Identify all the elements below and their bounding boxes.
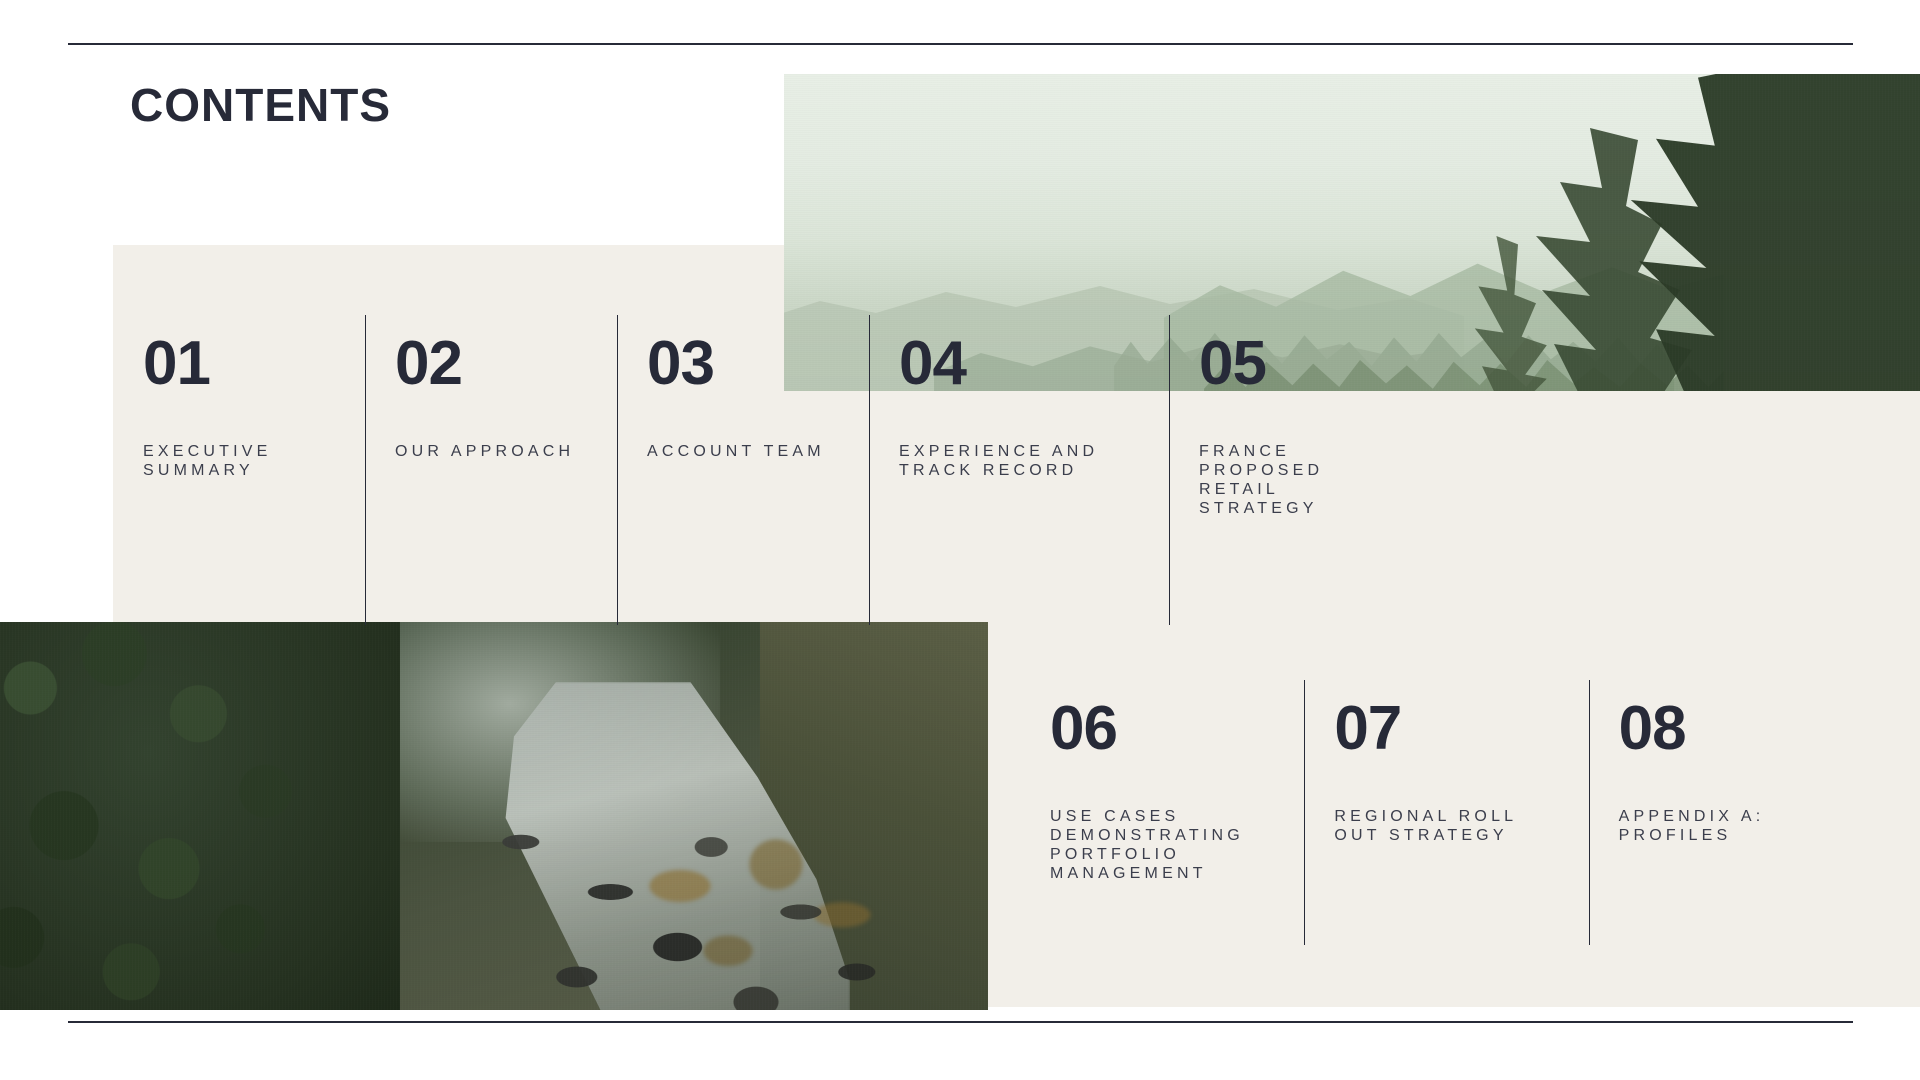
contents-item-03[interactable]: 03 ACCOUNT TEAM: [617, 315, 869, 625]
top-divider-rule: [68, 43, 1853, 45]
contents-item-02[interactable]: 02 OUR APPROACH: [365, 315, 617, 625]
item-label: FRANCE PROPOSED RETAIL STRATEGY: [1199, 443, 1469, 519]
item-number: 05: [1199, 333, 1469, 395]
photo-rocks: [420, 772, 980, 1010]
contents-slide: CONTENTS 01 EXECUTIVE SUMMARY 02 OUR APP…: [0, 0, 1920, 1080]
contents-item-01[interactable]: 01 EXECUTIVE SUMMARY: [113, 315, 365, 625]
item-number: 08: [1619, 698, 1873, 760]
item-number: 02: [395, 333, 617, 395]
item-label: APPENDIX A: PROFILES: [1619, 808, 1873, 846]
item-label: OUR APPROACH: [395, 443, 617, 462]
photo-dense-forest: [0, 622, 400, 1010]
item-number: 04: [899, 333, 1169, 395]
contents-item-06[interactable]: 06 USE CASES DEMONSTRATING PORTFOLIO MAN…: [1020, 680, 1304, 945]
item-label: ACCOUNT TEAM: [647, 443, 869, 462]
item-number: 01: [143, 333, 365, 395]
forest-river-rapids-photo: [0, 622, 988, 1010]
contents-item-05[interactable]: 05 FRANCE PROPOSED RETAIL STRATEGY: [1169, 315, 1469, 625]
item-label: REGIONAL ROLL OUT STRATEGY: [1334, 808, 1588, 846]
item-number: 07: [1334, 698, 1588, 760]
page-title: CONTENTS: [130, 82, 391, 128]
contents-item-08[interactable]: 08 APPENDIX A: PROFILES: [1589, 680, 1873, 945]
item-label: USE CASES DEMONSTRATING PORTFOLIO MANAGE…: [1050, 808, 1304, 884]
item-number: 06: [1050, 698, 1304, 760]
item-label: EXPERIENCE AND TRACK RECORD: [899, 443, 1169, 481]
item-label: EXECUTIVE SUMMARY: [143, 443, 365, 481]
contents-item-04[interactable]: 04 EXPERIENCE AND TRACK RECORD: [869, 315, 1169, 625]
contents-item-07[interactable]: 07 REGIONAL ROLL OUT STRATEGY: [1304, 680, 1588, 945]
contents-row-top: 01 EXECUTIVE SUMMARY 02 OUR APPROACH 03 …: [113, 315, 1533, 625]
contents-row-bottom: 06 USE CASES DEMONSTRATING PORTFOLIO MAN…: [1020, 680, 1873, 945]
item-number: 03: [647, 333, 869, 395]
bottom-divider-rule: [68, 1021, 1853, 1023]
